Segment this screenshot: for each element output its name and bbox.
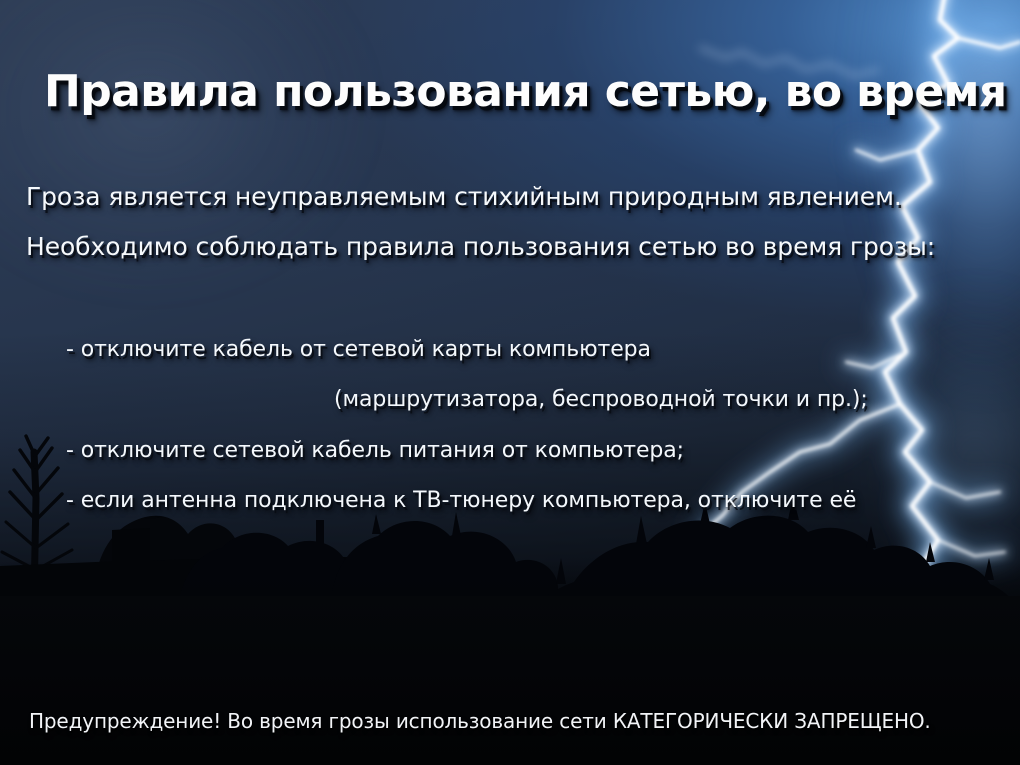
bullet-item-3: - если антенна подключена к ТВ-тюнеру ко… [66, 488, 856, 513]
slide-title: Правила пользования сетью, во время гроз… [44, 66, 1020, 117]
lead-paragraph-2: Необходимо соблюдать правила пользования… [26, 232, 935, 261]
bullet-item-1-continuation: (маршрутизатора, беспроводной точки и пр… [334, 387, 868, 412]
lead-paragraph-1: Гроза является неуправляемым стихийным п… [26, 182, 902, 211]
slide-content: Правила пользования сетью, во время гроз… [0, 0, 1020, 765]
bullet-item-1: - отключите кабель от сетевой карты комп… [66, 337, 651, 362]
bullet-item-2: - отключите сетевой кабель питания от ко… [66, 438, 684, 463]
slide-root: Правила пользования сетью, во время гроз… [0, 0, 1020, 765]
warning-footer: Предупреждение! Во время грозы использов… [29, 709, 931, 733]
